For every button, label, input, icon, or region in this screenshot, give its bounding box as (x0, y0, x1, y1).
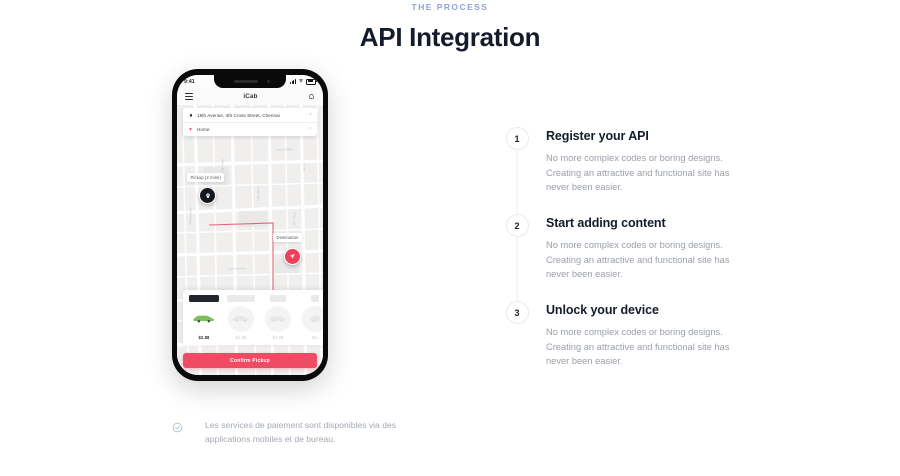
car-sedan-icon (193, 314, 215, 324)
footnote: Les services de paiement sont disponible… (172, 419, 433, 446)
app-bar: iCab (177, 88, 323, 105)
step-description: No more complex codes or boring designs.… (546, 238, 731, 282)
step-title: Unlock your device (546, 302, 731, 318)
wifi-icon (298, 78, 304, 85)
vehicle-option-3[interactable]: $4.98 (263, 295, 293, 341)
status-icons (290, 78, 316, 85)
step-number: 3 (506, 301, 529, 324)
step-marker: 2 (500, 214, 534, 237)
navigation-arrow-icon (289, 253, 296, 260)
battery-icon (306, 79, 316, 85)
car-icon (269, 315, 287, 323)
cellular-bars-icon (290, 79, 296, 84)
pickup-address-row[interactable]: 15th Avenue, 4th Cross Street, Chennai × (183, 108, 317, 122)
car-icon (232, 315, 250, 323)
destination-address-value: Home (197, 127, 305, 132)
svg-text:6th St: 6th St (302, 163, 306, 171)
vehicle-price-2: $1.98 (226, 335, 256, 340)
destination-address-row[interactable]: Home × (183, 122, 317, 136)
step-item: 1 Register your API No more complex code… (500, 127, 900, 214)
map-destination-label: Destination (273, 233, 302, 242)
vehicle-icon-1-wrap (191, 306, 217, 332)
bell-icon[interactable] (308, 93, 315, 100)
step-connector-line (517, 235, 518, 302)
phone-mockup-column: Anna Nagar Kamaraj Street 10th Street 6t… (0, 69, 500, 381)
step-body: Register your API No more complex codes … (534, 127, 731, 195)
steps-list: 1 Register your API No more complex code… (500, 69, 900, 388)
notch-speaker (234, 80, 258, 83)
eyebrow-label: THE PROCESS (0, 1, 900, 13)
step-description: No more complex codes or boring designs.… (546, 151, 731, 195)
step-number: 1 (506, 127, 529, 150)
vehicle-tab-4 (311, 295, 319, 302)
step-description: No more complex codes or boring designs.… (546, 325, 731, 369)
page-title: API Integration (0, 21, 900, 53)
vehicle-icon-4-wrap (302, 306, 323, 332)
svg-text:10th Street: 10th Street (256, 186, 261, 201)
step-body: Unlock your device No more complex codes… (534, 301, 731, 369)
step-item: 2 Start adding content No more complex c… (500, 214, 900, 301)
step-body: Start adding content No more complex cod… (534, 214, 731, 282)
vehicle-option-2[interactable]: $1.98 (226, 295, 256, 341)
step-title: Start adding content (546, 215, 731, 231)
address-search-card: 15th Avenue, 4th Cross Street, Chennai ×… (183, 108, 317, 136)
vehicle-selector-panel[interactable]: $2.88 $1.98 (183, 290, 323, 346)
notch-camera (267, 80, 270, 83)
vehicle-tab-1 (189, 295, 219, 302)
check-circle-icon (172, 420, 183, 431)
phone-notch (214, 75, 286, 88)
step-title: Register your API (546, 128, 731, 144)
pickup-pin-icon (205, 193, 211, 199)
car-icon (310, 315, 320, 323)
status-time: 9:41 (184, 79, 195, 85)
confirm-pickup-button[interactable]: Confirm Pickup (183, 353, 317, 368)
vehicle-option-4[interactable]: $3. (300, 295, 323, 341)
navigation-arrow-icon (188, 127, 193, 132)
step-marker: 3 (500, 301, 534, 324)
map-pickup-label: Pickup (2 mins) (187, 173, 224, 182)
step-marker: 1 (500, 127, 534, 150)
svg-text:8th Cross: 8th Cross (292, 212, 296, 225)
vehicle-price-3: $4.98 (263, 335, 293, 340)
page-header: THE PROCESS API Integration (0, 0, 900, 53)
hamburger-menu-icon[interactable] (185, 93, 193, 99)
vehicle-price-4: $3. (300, 335, 323, 340)
location-pin-icon (188, 113, 193, 118)
step-item: 3 Unlock your device No more complex cod… (500, 301, 900, 388)
app-title: iCab (243, 93, 257, 100)
phone-device-frame: Anna Nagar Kamaraj Street 10th Street 6t… (172, 69, 328, 381)
step-number: 2 (506, 214, 529, 237)
vehicle-icon-3-wrap (265, 306, 291, 332)
content-area: Anna Nagar Kamaraj Street 10th Street 6t… (0, 69, 900, 388)
map-destination-marker[interactable] (284, 248, 301, 265)
svg-text:Ranganathan: Ranganathan (188, 207, 193, 225)
clear-destination-icon[interactable]: × (309, 127, 312, 132)
pickup-address-value: 15th Avenue, 4th Cross Street, Chennai (197, 113, 305, 118)
step-connector-line (517, 148, 518, 215)
vehicle-carousel[interactable]: $2.88 $1.98 (189, 295, 323, 341)
phone-screen: Anna Nagar Kamaraj Street 10th Street 6t… (177, 75, 323, 375)
vehicle-icon-2-wrap (228, 306, 254, 332)
map-pickup-marker[interactable] (199, 187, 216, 204)
vehicle-price-1: $2.88 (189, 335, 219, 340)
vehicle-tab-3 (270, 295, 286, 302)
clear-pickup-icon[interactable]: × (309, 113, 312, 118)
vehicle-tab-2 (227, 295, 255, 302)
footnote-text: Les services de paiement sont disponible… (205, 419, 433, 446)
vehicle-option-1[interactable]: $2.88 (189, 295, 219, 341)
